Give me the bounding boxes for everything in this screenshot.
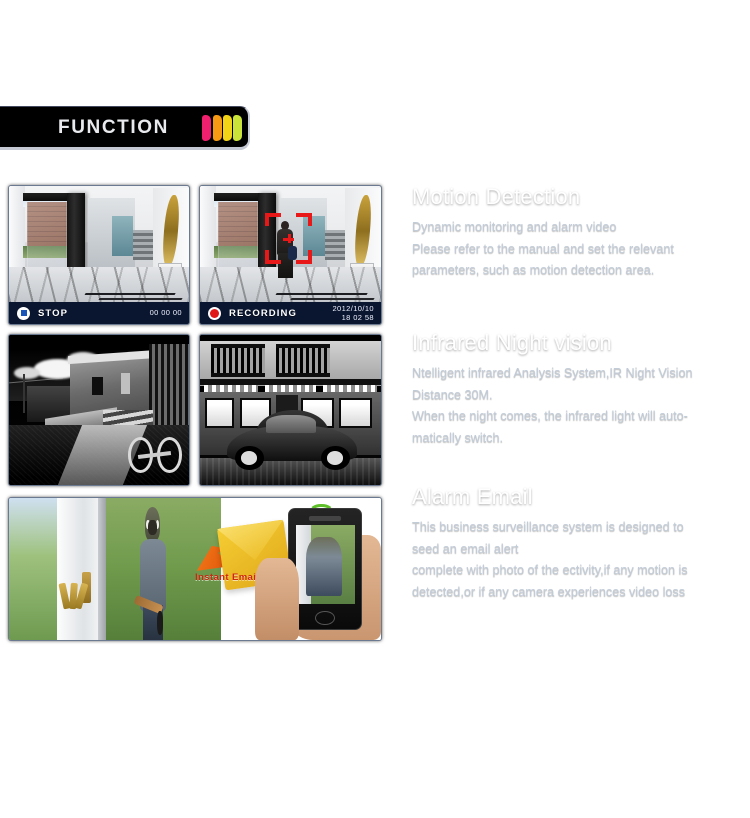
smartphone [288, 508, 362, 630]
building-window [92, 377, 103, 395]
body-line: This business surveillance system is des… [412, 517, 750, 539]
section-body: Ntelligent infrared Analysis System,IR N… [412, 363, 750, 450]
car-rim [327, 451, 343, 464]
lobby-glass-door [27, 201, 67, 273]
bracket-corner-bottom-right [296, 250, 312, 263]
body-line: Please refer to the manual and set the r… [412, 239, 750, 261]
lobby-floor-dark-band [275, 293, 367, 295]
lobby-stairs [133, 230, 155, 260]
lobby-door-frame [67, 193, 85, 279]
utility-pole [23, 374, 25, 413]
banner-color-bar-yellow [223, 115, 232, 141]
osd-datetime: 2012/10/10 18 02 58 [332, 304, 374, 323]
bicycle [128, 425, 182, 473]
panel-motion-stop: STOP 00 00 00 [8, 185, 190, 325]
osd-status-label: RECORDING [229, 308, 297, 319]
phone-speaker [309, 516, 341, 521]
section-title: Alarm Email [412, 484, 750, 510]
stop-square-icon [17, 307, 30, 320]
car-tire-front [235, 446, 264, 470]
bracket-corner-bottom-left [265, 250, 281, 263]
night-car-image [200, 335, 381, 485]
panel-night-vision-car [199, 334, 382, 486]
balcony-railing [276, 344, 330, 377]
body-line: parameters, such as motion detection are… [412, 260, 750, 282]
body-line: Dynamic monitoring and alarm video [412, 217, 750, 239]
instant-email-label: Instant Email [195, 572, 259, 583]
body-line: detected,or if any camera experiences vi… [412, 582, 750, 604]
phone-home-button[interactable] [315, 611, 335, 625]
night-cloud [14, 367, 39, 379]
masked-burglar [138, 507, 168, 640]
body-line: Ntelligent infrared Analysis System,IR N… [412, 363, 750, 385]
body-line: complete with photo of the ectivity,if a… [412, 560, 750, 582]
section-title: Infrared Night vision [412, 330, 750, 356]
balcony-railing [211, 344, 265, 377]
section-infrared-night-vision: Infrared Night vision Ntelligent infrare… [412, 330, 750, 450]
door-keys [61, 583, 87, 609]
lobby-floor-dark-band-2 [98, 298, 182, 300]
white-door-panel [57, 498, 102, 640]
lobby-back-door [112, 216, 134, 255]
body-line: When the night comes, the infrared light… [412, 406, 750, 428]
bracket-corner-top-left [265, 213, 281, 226]
building-window [121, 373, 130, 394]
lobby-floor-dark-band-2 [290, 298, 374, 300]
night-street-image [9, 335, 189, 485]
bracket-corner-top-right [296, 213, 312, 226]
car-tire-rear [321, 446, 350, 470]
lobby-stairs [325, 230, 347, 260]
body-line: Distance 30M. [412, 385, 750, 407]
hand-finger [255, 558, 300, 640]
product-feature-page: FUNCTION [0, 0, 750, 818]
lobby-floor-dark-band [84, 293, 175, 295]
body-line: seed an email alert [412, 539, 750, 561]
window-bars-grate [149, 344, 189, 437]
crosshair-vertical [288, 234, 291, 243]
section-motion-detection: Motion Detection Dynamic monitoring and … [412, 184, 750, 282]
section-alarm-email: Alarm Email This business surveillance s… [412, 484, 750, 604]
osd-status-label: STOP [38, 308, 68, 319]
osd-status-bar-stop: STOP 00 00 00 [9, 302, 189, 324]
lobby-scene-image-recording [200, 186, 381, 302]
lobby-scene-image [9, 186, 189, 302]
banner-color-bar-pink [202, 115, 211, 141]
banner-color-bar-orange [213, 115, 222, 141]
panel-night-vision-street [8, 334, 190, 486]
parked-car [227, 407, 357, 470]
alarm-email-composite-image: Instant Email [9, 498, 381, 640]
lobby-tiled-floor [9, 267, 189, 302]
function-banner: FUNCTION [0, 106, 250, 150]
car-window [266, 415, 316, 434]
record-dot-icon [208, 307, 221, 320]
phone-screen-alert-photo [296, 525, 355, 604]
panel-alarm-email: Instant Email [8, 497, 382, 641]
section-title: Motion Detection [412, 184, 750, 210]
body-line: matically switch. [412, 428, 750, 450]
osd-status-bar-recording: RECORDING 2012/10/10 18 02 58 [200, 302, 381, 324]
section-body: This business surveillance system is des… [412, 517, 750, 604]
motion-detection-bracket [265, 213, 312, 264]
lobby-glass-door [218, 201, 258, 273]
function-banner-label: FUNCTION [58, 117, 169, 139]
burglar-glove [157, 611, 164, 635]
phone-screen-intruder [306, 537, 342, 596]
osd-timecode: 00 00 00 [150, 308, 182, 317]
osd-date: 2012/10/10 [332, 304, 374, 313]
burglar-mask-opening [148, 520, 157, 535]
osd-time: 18 02 58 [332, 313, 374, 322]
panel-motion-recording: RECORDING 2012/10/10 18 02 58 [199, 185, 382, 325]
section-body: Dynamic monitoring and alarm video Pleas… [412, 217, 750, 282]
car-rim [241, 451, 257, 464]
banner-color-bar-lime [233, 115, 242, 141]
